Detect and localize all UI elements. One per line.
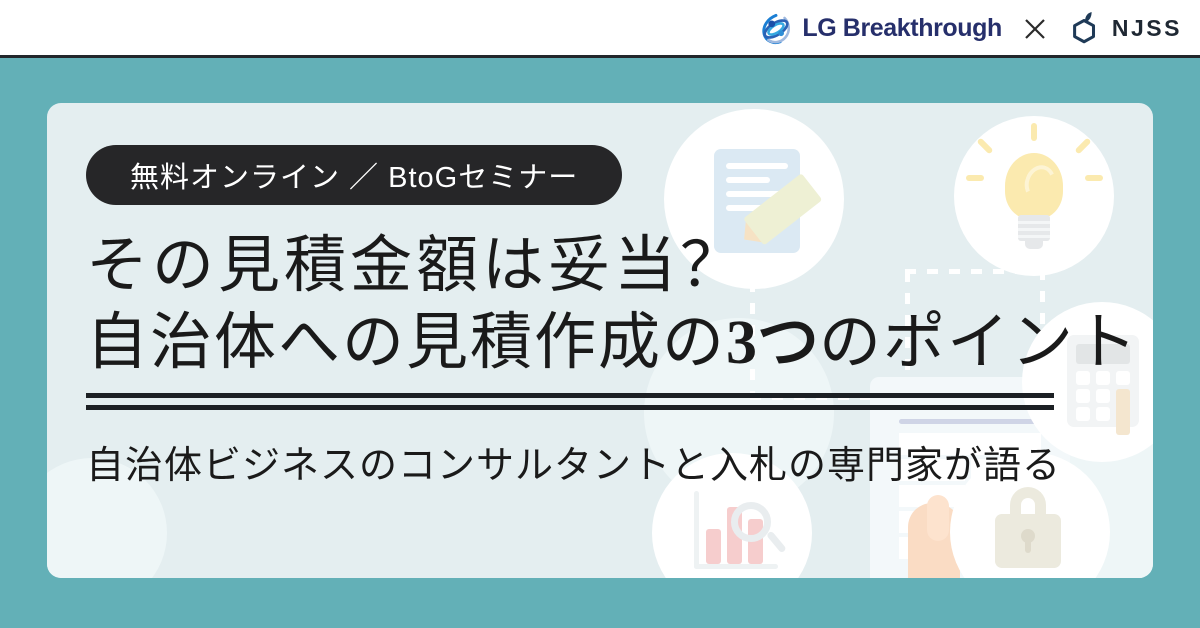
title-line2-post: のポイント: [819, 309, 1139, 377]
divider-line-bottom: [86, 405, 1054, 410]
seminar-title-line1: その見積金額は妥当？: [86, 233, 1076, 300]
person-finger: [927, 495, 949, 541]
title-line2-highlight: 3つ: [726, 309, 819, 377]
magnifier-ring: [731, 502, 771, 542]
calculator-key-amber: [1116, 389, 1130, 435]
chart-bar: [706, 529, 721, 564]
chart-axis-x: [694, 564, 778, 569]
calculator-key: [1076, 407, 1090, 421]
seminar-content: 無料オンライン ／ BtoGセミナー その見積金額は妥当？ 自治体への見積作成の…: [86, 145, 1076, 489]
title-line2-pre: 自治体への見積作成の: [86, 309, 726, 377]
close-icon: [1022, 16, 1048, 42]
calculator-key: [1076, 389, 1090, 403]
chart-axis-y: [694, 491, 699, 569]
njss-logo: NJSS: [1068, 10, 1182, 48]
njss-hexagon-icon: [1068, 10, 1102, 48]
njss-wordmark: NJSS: [1112, 15, 1182, 42]
header-bar: LG Breakthrough NJSS: [0, 0, 1200, 57]
seminar-banner: LG Breakthrough NJSS: [0, 0, 1200, 628]
padlock-keyhole-stem: [1025, 539, 1031, 553]
lg-breakthrough-wordmark: LG Breakthrough: [802, 14, 1002, 43]
seminar-title-line2: 自治体への見積作成の3つのポイント: [86, 310, 1076, 377]
calculator-key: [1096, 389, 1110, 403]
double-divider: [86, 393, 1054, 410]
divider-line-top: [86, 393, 1054, 398]
bulb-ray: [1085, 175, 1103, 181]
calculator-key: [1096, 407, 1110, 421]
lg-breakthrough-logo: LG Breakthrough: [759, 12, 1002, 46]
globe-swirl-icon: [759, 12, 793, 46]
bulb-ray: [1031, 123, 1037, 141]
seminar-badge: 無料オンライン ／ BtoGセミナー: [86, 145, 622, 205]
partner-logos: LG Breakthrough NJSS: [759, 10, 1182, 48]
seminar-subtitle: 自治体ビジネスのコンサルタントと入札の専門家が語る: [86, 434, 1076, 489]
